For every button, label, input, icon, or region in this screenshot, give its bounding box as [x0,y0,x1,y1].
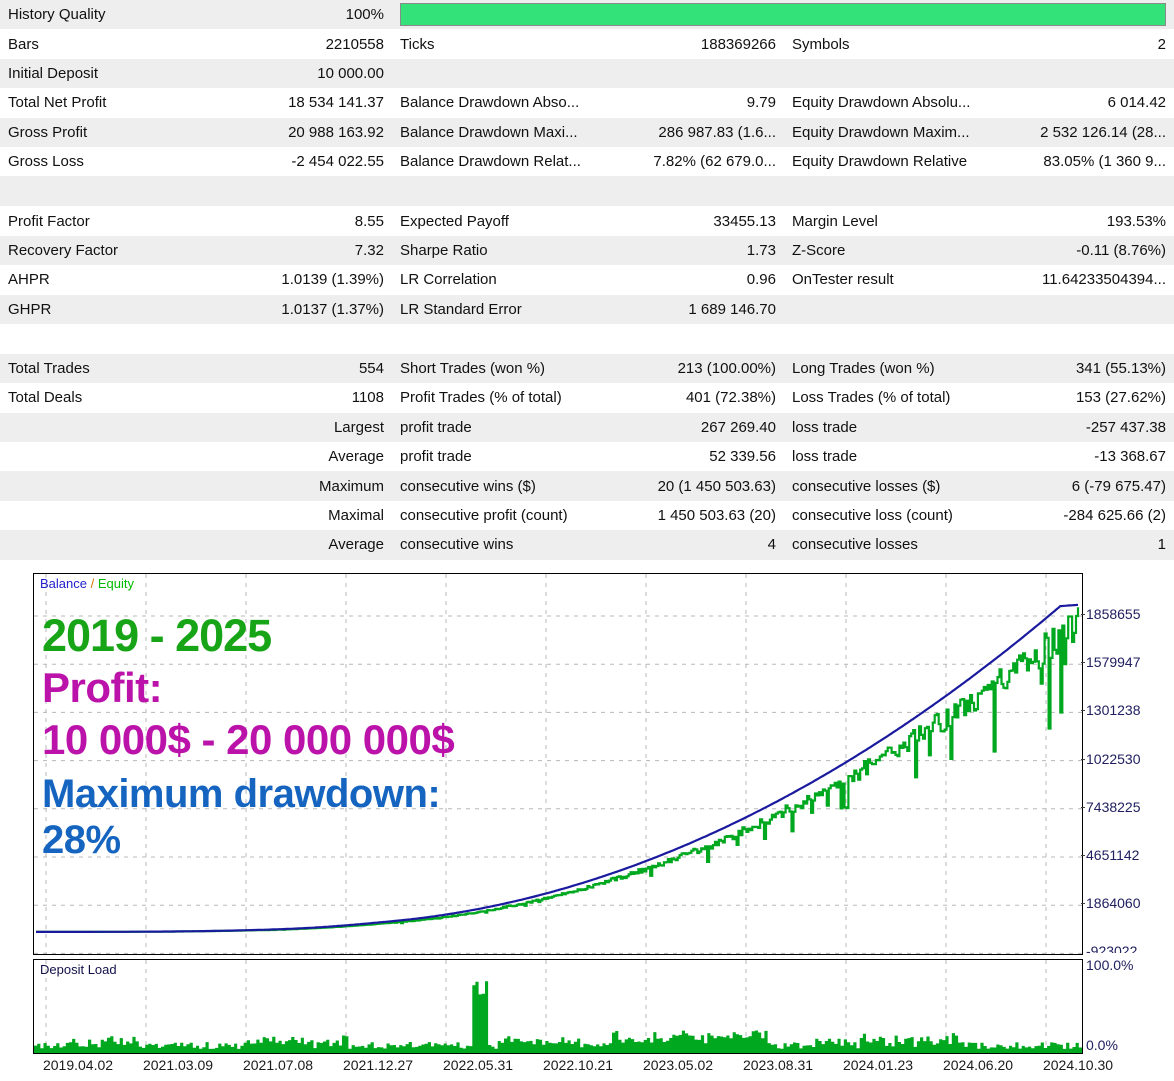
stat-value: 286 987.83 (1.6... [588,118,784,147]
stat-label: consecutive losses [784,530,980,559]
stat-label: Short Trades (won %) [392,354,588,383]
table-row[interactable]: Recovery Factor7.32Sharpe Ratio1.73Z-Sco… [0,236,1174,265]
stat-value: 193.53% [980,206,1174,235]
x-axis-tick: 2021.12.27 [343,1057,413,1073]
strategy-tester-report: History Quality100%Bars2210558Ticks18836… [0,0,1174,1080]
table-row[interactable]: GHPR1.0137 (1.37%)LR Standard Error1 689… [0,295,1174,324]
table-row[interactable]: Gross Loss-2 454 022.55Balance Drawdown … [0,147,1174,176]
stat-label [0,530,196,559]
table-row[interactable]: Gross Profit20 988 163.92Balance Drawdow… [0,118,1174,147]
stat-label [784,59,980,88]
stat-value: Maximal [196,501,392,530]
x-axis-tick: 2024.01.23 [843,1057,913,1073]
deposit-load-title: Deposit Load [40,962,117,977]
stat-value: 401 (72.38%) [588,383,784,412]
table-row[interactable]: Bars2210558Ticks188369266Symbols2 [0,29,1174,58]
stat-label: Total Deals [0,383,196,412]
stat-label: Expected Payoff [392,206,588,235]
stat-value: 6 (-79 675.47) [980,471,1174,500]
stat-label: LR Standard Error [392,295,588,324]
stat-value: 2 532 126.14 (28... [980,118,1174,147]
stat-value: 2 [980,29,1174,58]
deposit-load-svg [34,960,1082,1053]
y-axis-tick: 1301238 [1086,702,1141,718]
stat-label: Loss Trades (% of total) [784,383,980,412]
y-axis-tick: -923022 [1086,943,1137,953]
stat-value: 1108 [196,383,392,412]
deposit-load-max-label: 100.0% [1086,957,1133,973]
stat-value: 7.82% (62 679.0... [588,147,784,176]
stat-label: LR Correlation [392,265,588,294]
table-row[interactable]: Total Trades554Short Trades (won %)213 (… [0,354,1174,383]
x-axis-tick: 2019.04.02 [43,1057,113,1073]
stat-value: Average [196,442,392,471]
overlay-drawdown-value: 28% [42,819,454,861]
overlay-period: 2019 - 2025 [42,612,454,660]
y-axis-tick: 1864060 [1086,895,1141,911]
stat-value [980,295,1174,324]
table-row[interactable]: Maximumconsecutive wins ($)20 (1 450 503… [0,471,1174,500]
stat-label: loss trade [784,442,980,471]
table-row[interactable]: AHPR1.0139 (1.39%)LR Correlation0.96OnTe… [0,265,1174,294]
stat-label: Long Trades (won %) [784,354,980,383]
balance-equity-chart: Balance / Equity 2019 - 2025 Profit: 10 … [0,565,1174,1080]
stat-label: consecutive wins [392,530,588,559]
table-row[interactable]: Averageprofit trade52 339.56loss trade-1… [0,442,1174,471]
table-row[interactable]: Largestprofit trade267 269.40loss trade-… [0,413,1174,442]
stat-label: consecutive loss (count) [784,501,980,530]
chart-plot-area[interactable]: Balance / Equity 2019 - 2025 Profit: 10 … [33,573,1083,955]
stat-label: Balance Drawdown Relat... [392,147,588,176]
stat-label [784,295,980,324]
stat-label: AHPR [0,265,196,294]
history-quality-bar [392,0,1174,29]
stat-label: consecutive losses ($) [784,471,980,500]
deposit-load-area [34,981,1082,1053]
spacer-cell [0,324,1174,354]
stat-value: 1.73 [588,236,784,265]
stat-value: 213 (100.00%) [588,354,784,383]
overlay-profit-label: Profit: [42,666,454,711]
deposit-load-plot[interactable]: Deposit Load [33,959,1083,1054]
stat-label: Equity Drawdown Absolu... [784,88,980,117]
stat-label: consecutive profit (count) [392,501,588,530]
x-axis-tick: 2024.10.30 [1043,1057,1113,1073]
table-row[interactable]: Profit Factor8.55Expected Payoff33455.13… [0,206,1174,235]
stat-value: -257 437.38 [980,413,1174,442]
stat-value: -284 625.66 (2) [980,501,1174,530]
overlay-drawdown-label: Maximum drawdown: [42,773,454,815]
table-row[interactable]: Initial Deposit10 000.00 [0,59,1174,88]
y-axis-tick: 1022530 [1086,751,1141,767]
x-axis-tick: 2024.06.20 [943,1057,1013,1073]
stat-label: Bars [0,29,196,58]
statistics-table: History Quality100%Bars2210558Ticks18836… [0,0,1174,560]
stat-label [0,442,196,471]
stat-value: -0.11 (8.76%) [980,236,1174,265]
stat-value: 554 [196,354,392,383]
stat-value [980,59,1174,88]
y-axis-tick: 7438225 [1086,799,1141,815]
stat-value: 2210558 [196,29,392,58]
deposit-load-min-label: 0.0% [1086,1037,1118,1053]
spacer-cell [0,176,1174,206]
stat-value: 33455.13 [588,206,784,235]
stat-label: loss trade [784,413,980,442]
stat-label: OnTester result [784,265,980,294]
y-axis-tick: 1858655 [1086,606,1141,622]
stat-label: Equity Drawdown Relative [784,147,980,176]
chart-y-axis: 1858655157994713012381022530743822546511… [1086,573,1174,955]
stat-value: 341 (55.13%) [980,354,1174,383]
stat-value: 18 534 141.37 [196,88,392,117]
stat-label: Balance Drawdown Abso... [392,88,588,117]
stat-value: 1.0137 (1.37%) [196,295,392,324]
legend-separator: / [91,576,95,591]
stat-label: Profit Trades (% of total) [392,383,588,412]
stat-value: Largest [196,413,392,442]
stat-value: Maximum [196,471,392,500]
stat-label: Profit Factor [0,206,196,235]
stat-label [392,59,588,88]
chart-overlay-text: 2019 - 2025 Profit: 10 000$ - 20 000 000… [42,612,454,862]
stat-label: Initial Deposit [0,59,196,88]
x-axis-tick: 2022.10.21 [543,1057,613,1073]
stat-value: 83.05% (1 360 9... [980,147,1174,176]
stat-label: Gross Loss [0,147,196,176]
table-spacer [0,176,1174,206]
x-axis-tick: 2021.03.09 [143,1057,213,1073]
stat-label: GHPR [0,295,196,324]
legend-balance: Balance [40,576,87,591]
table-row[interactable]: History Quality100% [0,0,1174,29]
stat-label: Equity Drawdown Maxim... [784,118,980,147]
stat-label: Ticks [392,29,588,58]
stat-label: Margin Level [784,206,980,235]
stat-value: 1 450 503.63 (20) [588,501,784,530]
stat-label: consecutive wins ($) [392,471,588,500]
table-row[interactable]: Total Net Profit18 534 141.37Balance Dra… [0,88,1174,117]
stat-value: 153 (27.62%) [980,383,1174,412]
stat-value: 20 988 163.92 [196,118,392,147]
stat-value: 10 000.00 [196,59,392,88]
stat-label: Balance Drawdown Maxi... [392,118,588,147]
stat-label: Total Net Profit [0,88,196,117]
stat-label: profit trade [392,413,588,442]
y-axis-tick: 4651142 [1086,847,1139,863]
y-axis-tick: 1579947 [1086,654,1141,670]
stat-value [588,59,784,88]
chart-legend: Balance / Equity [40,576,134,591]
stat-value: 188369266 [588,29,784,58]
table-row[interactable]: Averageconsecutive wins4consecutive loss… [0,530,1174,559]
x-axis-tick: 2023.05.02 [643,1057,713,1073]
stat-value: 4 [588,530,784,559]
x-axis-tick: 2022.05.31 [443,1057,513,1073]
stat-value: -13 368.67 [980,442,1174,471]
stat-label: Sharpe Ratio [392,236,588,265]
stat-value: -2 454 022.55 [196,147,392,176]
stat-value: 11.64233504394... [980,265,1174,294]
stat-value: 1 [980,530,1174,559]
table-spacer [0,324,1174,354]
stat-label: Symbols [784,29,980,58]
stat-label [0,413,196,442]
stat-value: 1 689 146.70 [588,295,784,324]
chart-x-axis: 2019.04.022021.03.092021.07.082021.12.27… [33,1057,1174,1081]
stat-value: Average [196,530,392,559]
stat-value: 1.0139 (1.39%) [196,265,392,294]
x-axis-tick: 2021.07.08 [243,1057,313,1073]
stat-value: 267 269.40 [588,413,784,442]
stat-value: 7.32 [196,236,392,265]
legend-equity: Equity [98,576,134,591]
stat-label [0,501,196,530]
stat-value: 9.79 [588,88,784,117]
stat-label: Total Trades [0,354,196,383]
stat-label: Z-Score [784,236,980,265]
stat-value: 0.96 [588,265,784,294]
stat-label: History Quality [0,0,196,29]
stat-label: Recovery Factor [0,236,196,265]
stat-value: 100% [196,0,392,29]
stat-label [0,471,196,500]
table-row[interactable]: Total Deals1108Profit Trades (% of total… [0,383,1174,412]
table-row[interactable]: Maximalconsecutive profit (count)1 450 5… [0,501,1174,530]
stat-label: profit trade [392,442,588,471]
stat-value: 6 014.42 [980,88,1174,117]
stat-value: 8.55 [196,206,392,235]
x-axis-tick: 2023.08.31 [743,1057,813,1073]
stat-value: 20 (1 450 503.63) [588,471,784,500]
stat-label: Gross Profit [0,118,196,147]
stat-value: 52 339.56 [588,442,784,471]
overlay-profit-range: 10 000$ - 20 000 000$ [42,718,454,763]
